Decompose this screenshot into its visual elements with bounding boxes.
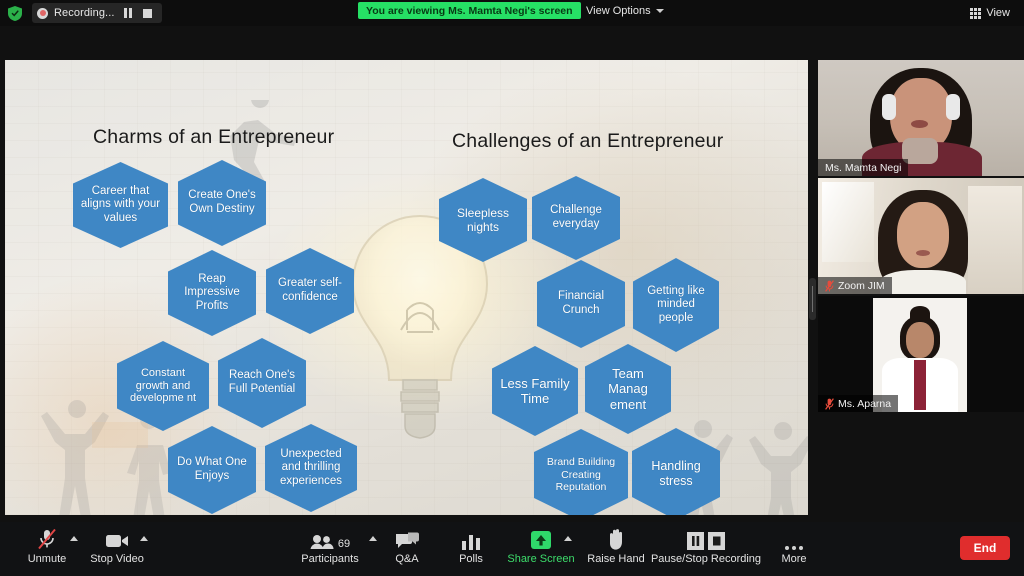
charm-hexagon-label: Constant growth and developme nt [124, 367, 202, 406]
shield-encryption-icon[interactable] [8, 6, 22, 21]
charm-hexagon-label: Reach One's Full Potential [225, 369, 299, 396]
challenge-hexagon-label: Less Family Time [499, 376, 571, 407]
challenge-hexagon: Financial Crunch [537, 260, 625, 348]
chevron-up-icon[interactable] [564, 536, 572, 541]
screen-share-banner-label: You are viewing Ms. Mamta Negi's screen [366, 5, 573, 17]
video-tile-name: Zoom JIM [838, 280, 885, 292]
chevron-up-icon[interactable] [140, 536, 148, 541]
recording-label: Recording... [54, 7, 115, 19]
challenge-hexagon-label: Handling stress [639, 459, 713, 489]
grid-view-icon [970, 8, 981, 19]
toolbar-button-label: Unmute [28, 553, 67, 565]
zoom-meeting-window: Recording... You are viewing Ms. Mamta N… [0, 0, 1024, 576]
slide-title-charms: Charms of an Entrepreneur [93, 126, 334, 149]
charm-hexagon-label: Unexpected and thrilling experiences [272, 448, 350, 489]
chevron-up-icon[interactable] [70, 536, 78, 541]
challenge-hexagon: Challenge everyday [532, 176, 620, 260]
end-meeting-label: End [974, 541, 997, 555]
video-tile-nameplate: Ms. Mamta Negi [818, 159, 908, 176]
challenge-hexagon-label: Getting like minded people [640, 285, 712, 326]
recording-dot-icon [37, 8, 48, 19]
video-tile[interactable]: Ms. Mamta Negi [818, 60, 1024, 176]
video-tile-nameplate: Zoom JIM [818, 277, 892, 294]
screen-share-banner: You are viewing Ms. Mamta Negi's screen [358, 2, 581, 19]
challenge-hexagon: Brand Building Creating Reputation [534, 429, 628, 515]
polls-bars-icon [461, 532, 481, 550]
participants-count: 69 [338, 538, 350, 550]
view-layout-button[interactable]: View [966, 4, 1014, 22]
toolbar-button-more[interactable]: More [755, 528, 833, 572]
charm-hexagon: Unexpected and thrilling experiences [265, 424, 357, 512]
charm-hexagon-label: Greater self-confidence [273, 277, 347, 304]
view-options-label: View Options [586, 5, 651, 17]
toolbar-button-label: Polls [459, 553, 483, 565]
view-layout-label: View [986, 7, 1010, 19]
video-tile[interactable]: Ms. Aparna [818, 296, 1024, 412]
toolbar-button-stop-video[interactable]: Stop Video [78, 528, 156, 572]
toolbar-button-polls[interactable]: Polls [432, 528, 510, 572]
charm-hexagon-label: Create One's Own Destiny [185, 189, 259, 216]
toolbar-button-participants[interactable]: 69Participants [285, 528, 375, 572]
charm-hexagon-label: Reap Impressive Profits [175, 273, 249, 314]
chevron-down-icon [656, 9, 664, 13]
video-tile-name: Ms. Mamta Negi [825, 162, 901, 174]
toolbar-button-label: Pause/Stop Recording [651, 553, 761, 565]
toolbar-button-unmute[interactable]: Unmute [8, 528, 86, 572]
challenge-hexagon-label: Financial Crunch [544, 290, 618, 317]
silhouette-poster [90, 420, 150, 460]
toolbar-button-pause-stop-recording[interactable]: Pause/Stop Recording [646, 528, 766, 572]
pause-stop-icon [687, 532, 725, 550]
challenge-hexagon-label: Challenge everyday [539, 204, 613, 231]
video-tile-nameplate: Ms. Aparna [818, 395, 898, 412]
challenge-hexagon-label: Sleepless nights [446, 206, 520, 234]
recording-indicator: Recording... [32, 3, 162, 23]
challenge-hexagon: Less Family Time [492, 346, 578, 436]
video-tile[interactable]: Zoom JIM [818, 178, 1024, 294]
video-thumbnail-strip: Ms. Mamta Negi Zoom JIM Ms [818, 60, 1024, 515]
mic-muted-icon [825, 280, 834, 292]
charm-hexagon: Career that aligns with your values [73, 162, 168, 248]
meeting-toolbar: Unmute Stop Video 69Participants Q&A Pol… [0, 522, 1024, 576]
video-tile-name: Ms. Aparna [838, 398, 891, 410]
toolbar-button-label: Q&A [395, 553, 418, 565]
toolbar-button-label: More [781, 553, 806, 565]
share-screen-icon [530, 530, 552, 550]
mic-muted-icon [825, 398, 834, 410]
more-dots-icon [785, 546, 803, 550]
top-bar: Recording... You are viewing Ms. Mamta N… [0, 0, 1024, 26]
pause-icon[interactable] [121, 6, 135, 20]
toolbar-button-share-screen[interactable]: Share Screen [502, 528, 580, 572]
mic-muted-icon [37, 528, 57, 550]
toolbar-button-label: Stop Video [90, 553, 144, 565]
challenge-hexagon-label: Team Manag ement [592, 366, 664, 412]
charm-hexagon: Reach One's Full Potential [218, 338, 306, 428]
charm-hexagon-label: Career that aligns with your values [80, 185, 161, 226]
participants-icon [310, 534, 334, 550]
challenge-hexagon-label: Brand Building Creating Reputation [541, 456, 621, 493]
qa-chat-icon [395, 532, 419, 550]
slide-title-challenges: Challenges of an Entrepreneur [452, 130, 723, 153]
toolbar-button-label: Raise Hand [587, 553, 644, 565]
challenge-hexagon: Getting like minded people [633, 258, 719, 352]
toolbar-button-raise-hand[interactable]: Raise Hand [577, 528, 655, 572]
challenge-hexagon: Team Manag ement [585, 344, 671, 434]
view-options-button[interactable]: View Options [580, 2, 670, 20]
charm-hexagon-label: Do What One Enjoys [175, 456, 249, 483]
stop-icon[interactable] [141, 6, 155, 20]
end-meeting-button[interactable]: End [960, 536, 1010, 560]
shared-screen-slide[interactable]: Charms of an Entrepreneur Challenges of … [5, 60, 808, 515]
toolbar-button-label: Participants [301, 553, 358, 565]
toolbar-button-label: Share Screen [507, 553, 574, 565]
video-camera-icon [105, 532, 129, 550]
raise-hand-icon [606, 528, 626, 550]
charm-hexagon: Reap Impressive Profits [168, 250, 256, 336]
charm-hexagon: Greater self-confidence [266, 248, 354, 334]
resize-handle[interactable] [809, 278, 816, 320]
